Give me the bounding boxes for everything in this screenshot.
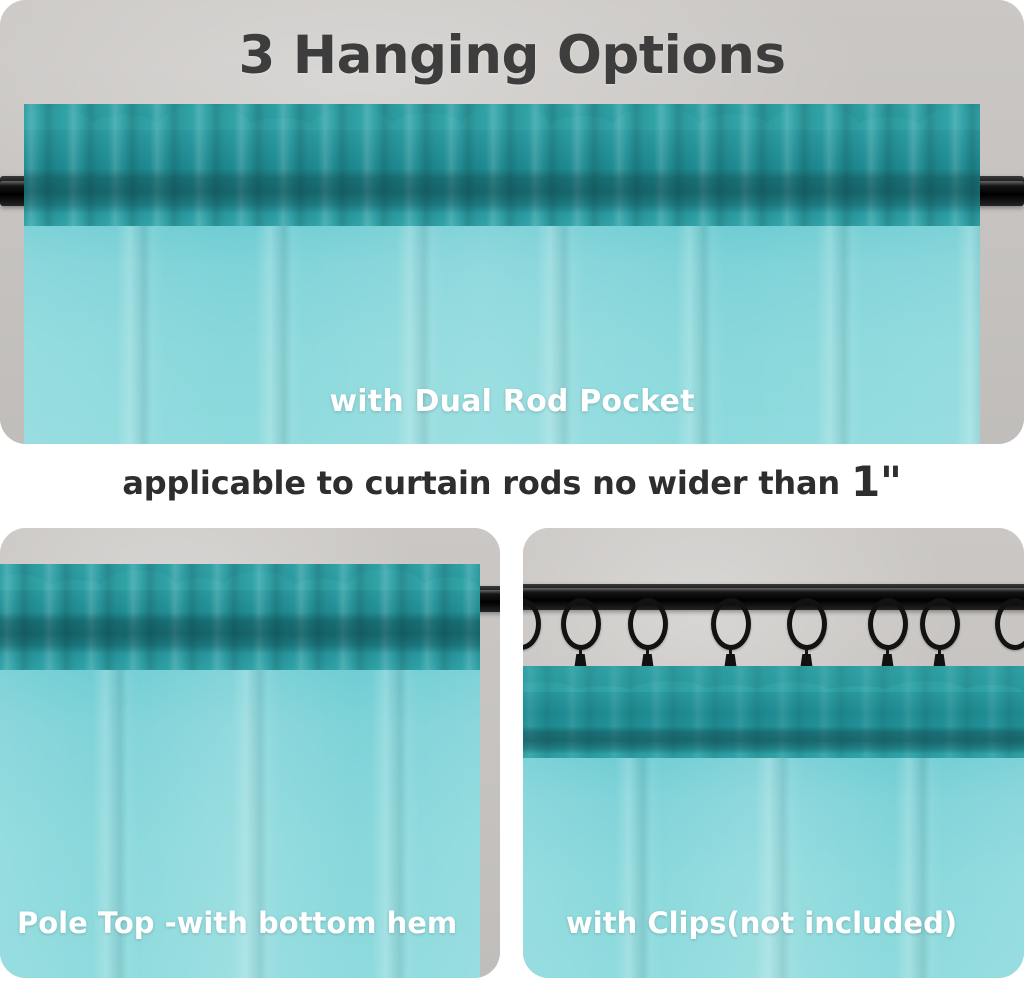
- curtain-clip-stem: [646, 648, 649, 655]
- curtain-ring-icon: [787, 598, 827, 650]
- subtitle-emphasis: 1": [851, 457, 902, 506]
- caption-dual-rod-pocket: with Dual Rod Pocket: [0, 384, 1024, 419]
- curtain-body-sheer: [523, 758, 1024, 978]
- curtain-clip-stem: [729, 648, 732, 655]
- header-seam-shadow: [523, 726, 1024, 754]
- page-title: 3 Hanging Options: [0, 25, 1024, 86]
- clip-top-header: [523, 666, 1024, 764]
- rod-highlight: [523, 588, 1024, 592]
- panel-dual-rod-pocket: 3 Hanging Options: [0, 0, 1024, 444]
- curtain-ring-icon: [920, 598, 960, 650]
- caption-with-clips: with Clips(not included): [566, 906, 957, 940]
- rod-shadow-through-fabric: [0, 612, 480, 654]
- curtain-ring-icon: [868, 598, 908, 650]
- panel-with-clips: with Clips(not included): [523, 528, 1024, 978]
- pole-top-header: [0, 564, 480, 676]
- curtain-clip-stem: [886, 648, 889, 655]
- curtain-ring-icon: [628, 598, 668, 650]
- curtain-clip-stem: [938, 648, 941, 655]
- subtitle-rod-width: applicable to curtain rods no wider than…: [0, 457, 1024, 506]
- curtain-clip-stem: [579, 648, 582, 655]
- hanging-options-infographic: 3 Hanging Options: [0, 0, 1024, 987]
- panel-pole-top: Pole Top -with bottom hem: [0, 528, 500, 978]
- curtain-clip-stem: [805, 648, 808, 655]
- subtitle-text: applicable to curtain rods no wider than: [122, 464, 851, 502]
- rod-pocket-header: [24, 104, 980, 232]
- curtain-ring-icon: [711, 598, 751, 650]
- rod-shadow-through-fabric: [24, 168, 980, 214]
- curtain-ring-icon: [561, 598, 601, 650]
- caption-pole-top: Pole Top -with bottom hem: [17, 906, 457, 940]
- curtain-sheen: [523, 758, 1024, 978]
